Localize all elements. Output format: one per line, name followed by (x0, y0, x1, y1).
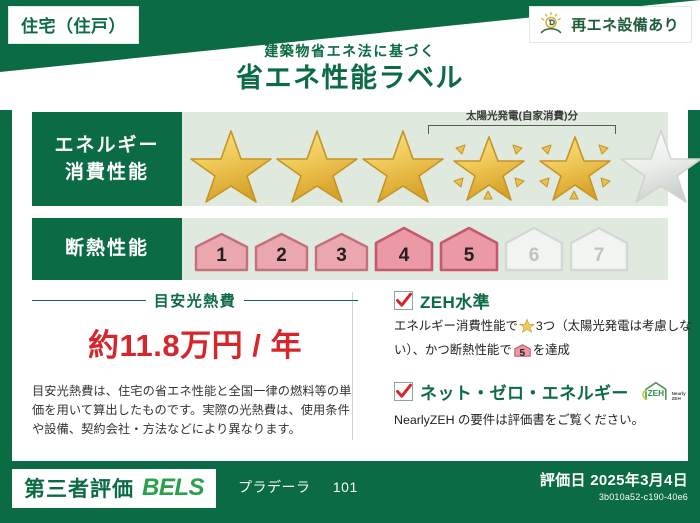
building-identification: プラデーラ 101 (238, 477, 358, 497)
star-icon-4-solar (446, 123, 532, 203)
utility-cost-section: 目安光熱費 約11.8万円 / 年 目安光熱費は、住宅の省エネ性能と全国一律の燃… (32, 288, 372, 440)
renewable-equipment-badge: 再エネ設備あり (529, 6, 692, 43)
house-type-tag: 住宅（住戸） (8, 6, 139, 44)
insulation-house-3: 3 (313, 232, 370, 272)
insulation-house-4-number: 4 (373, 245, 435, 267)
energy-performance-label: 住宅（住戸） 再エネ設備あり 建築物省エネ法に基づく 省エネ性能ラベル (0, 0, 700, 523)
energy-performance-row: エネルギー 消費性能 太陽光発電(自家消費)分 (32, 112, 668, 206)
net-zero-heading: ネット・ゼロ・エネルギー ZEH Nearly ZEH (394, 378, 692, 404)
star-icon-1 (188, 123, 274, 203)
insulation-house-1: 1 (193, 232, 250, 272)
insulation-house-2: 2 (253, 232, 310, 272)
utility-cost-note: 目安光熱費は、住宅の省エネ性能と全国一律の燃料等の単価を用いて算出したものです。… (32, 382, 358, 439)
solar-annotation-text: 太陽光発電(自家消費)分 (422, 110, 622, 123)
checkbox-checked-icon-zeh (394, 291, 413, 310)
zeh-standard-title: ZEH水準 (420, 288, 490, 313)
building-number: 101 (333, 479, 358, 495)
insulation-house-1-number: 1 (193, 245, 250, 267)
check-item-net-zero-energy: ネット・ゼロ・エネルギー ZEH Nearly ZEH NearlyZEH の要… (394, 378, 692, 431)
utility-cost-title: 目安光熱費 (154, 290, 237, 311)
zeh-logo-sub: Nearly ZEH (672, 391, 692, 404)
insulation-house-7: 7 (568, 226, 630, 272)
energy-label-line1: エネルギー (54, 132, 159, 159)
zeh-standard-body: エネルギー消費性能で3つ（太陽光発電は考慮しない）、かつ断熱性能で5を達成 (394, 316, 692, 365)
star-rating (182, 123, 700, 203)
insulation-house-3-number: 3 (313, 245, 370, 267)
footer-bar: 第三者評価 BELS プラデーラ 101 評価日 2025年3月4日 3b010… (0, 461, 700, 523)
energy-performance-body: 太陽光発電(自家消費)分 (182, 112, 700, 206)
star-icon-2 (274, 123, 360, 203)
insulation-performance-row: 断熱性能 1 2 (32, 218, 668, 280)
evaluation-id: 3b010a52-c190-40e6 (540, 492, 688, 502)
utility-cost-heading: 目安光熱費 (32, 290, 358, 311)
insulation-house-5-number: 5 (438, 245, 500, 267)
energy-label-line2: 消費性能 (65, 159, 149, 186)
svg-text:ZEH: ZEH (647, 389, 664, 398)
certification-checks: ZEH水準 エネルギー消費性能で3つ（太陽光発電は考慮しない）、かつ断熱性能で5… (372, 288, 692, 440)
sun-icon (538, 11, 564, 37)
star-icon-3 (360, 123, 446, 203)
third-party-eval-text: 第三者評価 (24, 473, 134, 503)
insulation-house-6: 6 (503, 226, 565, 272)
zeh-logo: ZEH Nearly ZEH (641, 378, 692, 404)
renewable-badge-label: 再エネ設備あり (571, 14, 679, 35)
net-zero-body: NearlyZEH の要件は評価書をご覧ください。 (394, 410, 692, 431)
building-name: プラデーラ (238, 479, 311, 495)
zeh-body-part3: を達成 (533, 343, 570, 357)
insulation-house-4: 4 (373, 226, 435, 272)
bels-certification-logo: 第三者評価 BELS (12, 469, 216, 508)
star-icon-inline (519, 322, 535, 336)
bels-wordmark: BELS (142, 474, 204, 502)
insulation-house-icon-inline: 5 (514, 343, 531, 365)
insulation-level-scale: 1 2 3 4 (182, 226, 630, 272)
cost-rule-right (244, 300, 358, 302)
check-item-zeh-standard: ZEH水準 エネルギー消費性能で3つ（太陽光発電は考慮しない）、かつ断熱性能で5… (394, 288, 692, 365)
inline-house-number: 5 (514, 343, 531, 364)
zeh-standard-heading: ZEH水準 (394, 288, 692, 313)
star-icon-6-empty (618, 123, 700, 203)
insulation-house-6-number: 6 (503, 245, 565, 267)
cost-rule-left (32, 300, 146, 302)
zeh-body-part1: エネルギー消費性能で (394, 319, 518, 333)
insulation-label-text: 断熱性能 (65, 237, 149, 261)
checkbox-checked-icon-netzero (394, 382, 413, 401)
utility-cost-value: 約11.8万円 / 年 (32, 320, 358, 365)
net-zero-title: ネット・ゼロ・エネルギー (420, 379, 629, 404)
evaluation-info: 評価日 2025年3月4日 3b010a52-c190-40e6 (540, 469, 688, 502)
evaluation-date: 評価日 2025年3月4日 (540, 469, 688, 490)
insulation-performance-label: 断熱性能 (32, 218, 182, 280)
energy-performance-label: エネルギー 消費性能 (32, 112, 182, 206)
star-icon-5-solar (532, 123, 618, 203)
insulation-performance-body: 1 2 3 4 (182, 218, 668, 280)
insulation-house-7-number: 7 (568, 245, 630, 267)
insulation-house-5: 5 (438, 226, 500, 272)
lower-content: 目安光熱費 約11.8万円 / 年 目安光熱費は、住宅の省エネ性能と全国一律の燃… (32, 288, 668, 440)
insulation-house-2-number: 2 (253, 245, 310, 267)
